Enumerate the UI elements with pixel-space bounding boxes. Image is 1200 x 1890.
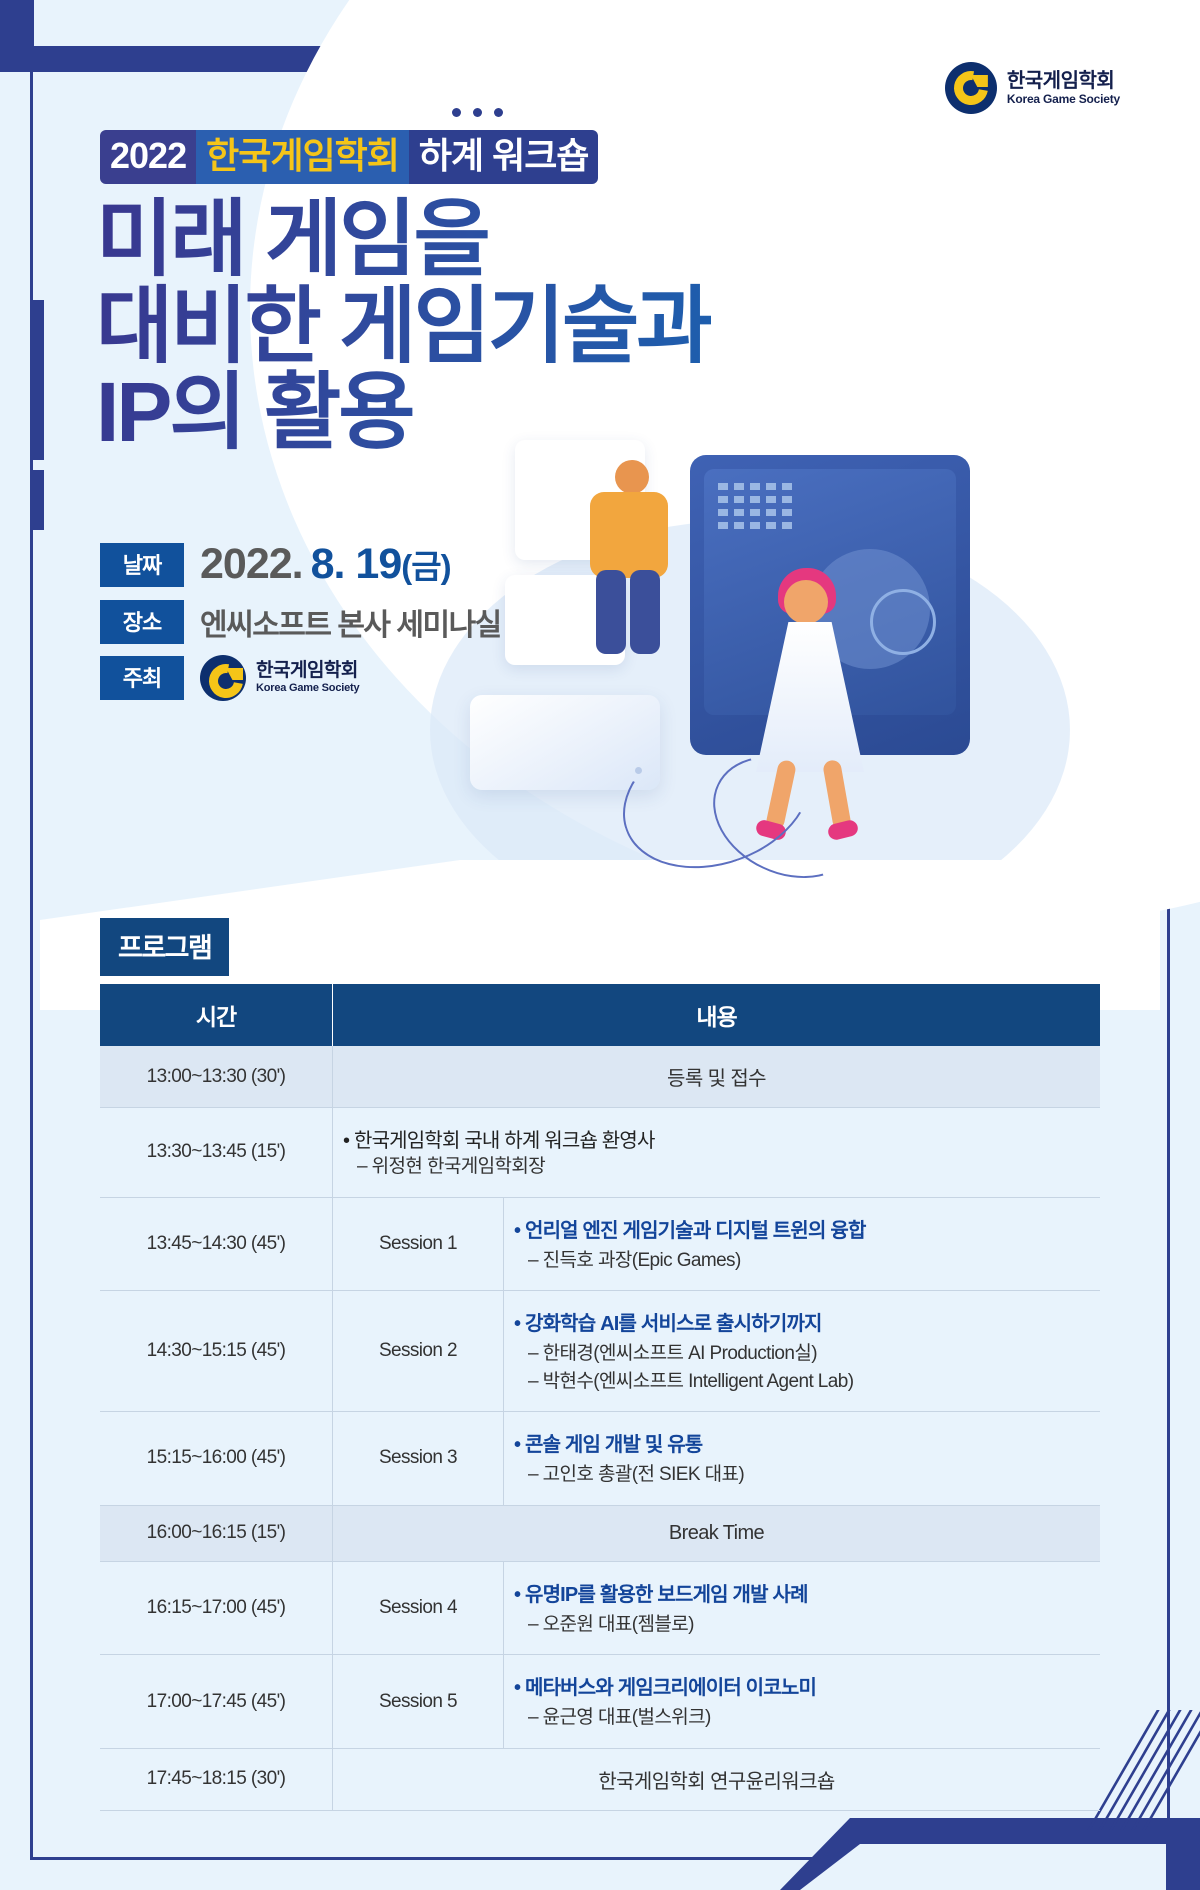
content-topic: 메타버스와 게임크리에이터 이코노미 xyxy=(514,1671,1090,1700)
content-topic: 유명IP를 활용한 보드게임 개발 사례 xyxy=(514,1578,1090,1607)
cell-content: 한국게임학회 국내 하계 워크숍 환영사위정현 한국게임학회장 xyxy=(333,1108,1101,1198)
society-name-en: Korea Game Society xyxy=(1007,92,1120,106)
program-table: 시간 내용 13:00~13:30 (30')등록 및 접수13:30~13:4… xyxy=(100,984,1100,1811)
content-topic: 강화학습 AI를 서비스로 출시하기까지 xyxy=(514,1307,1090,1336)
table-row: 13:45~14:30 (45')Session 1언리얼 엔진 게임기술과 디… xyxy=(100,1197,1100,1291)
table-row: 15:15~16:00 (45')Session 3콘솔 게임 개발 및 유통고… xyxy=(100,1412,1100,1506)
cell-session: Session 4 xyxy=(333,1561,504,1655)
table-row: 17:45~18:15 (30')한국게임학회 연구윤리워크숍 xyxy=(100,1748,1100,1810)
cell-time: 15:15~16:00 (45') xyxy=(100,1412,333,1506)
cell-time: 13:30~13:45 (15') xyxy=(100,1108,333,1198)
poster: 한국게임학회 Korea Game Society 2022 한국게임학회 하계… xyxy=(0,0,1200,1890)
program-header-row: 시간 내용 xyxy=(100,984,1100,1046)
place-value-wrap: 엔씨소프트 본사 세미나실 xyxy=(200,600,501,644)
table-row: 14:30~15:15 (45')Session 2강화학습 AI를 서비스로 … xyxy=(100,1291,1100,1412)
illustration-person-1-head xyxy=(615,460,649,494)
cell-time: 17:00~17:45 (45') xyxy=(100,1655,333,1749)
program-table-head: 시간 내용 xyxy=(100,984,1100,1046)
cell-content: 콘솔 게임 개발 및 유통고인호 총괄(전 SIEK 대표) xyxy=(504,1412,1101,1506)
program-table-body: 13:00~13:30 (30')등록 및 접수13:30~13:45 (15'… xyxy=(100,1046,1100,1810)
date-value: 2022. 8. 19 (금) xyxy=(200,540,451,589)
badge-year: 2022 xyxy=(100,130,196,184)
content-speaker: 위정현 한국게임학회장 xyxy=(343,1153,1090,1181)
page-title: 미래 게임을 대비한 게임기술과 IP의 활용 xyxy=(96,196,711,456)
table-row: 13:30~13:45 (15')한국게임학회 국내 하계 워크숍 환영사위정현… xyxy=(100,1108,1100,1198)
cell-content: 메타버스와 게임크리에이터 이코노미윤근영 대표(벌스위크) xyxy=(504,1655,1101,1749)
info-row-date: 날짜 2022. 8. 19 (금) xyxy=(100,540,501,589)
place-value: 엔씨소프트 본사 세미나실 xyxy=(200,600,501,644)
table-row: 16:15~17:00 (45')Session 4유명IP를 활용한 보드게임… xyxy=(100,1561,1100,1655)
cell-time: 13:45~14:30 (45') xyxy=(100,1197,333,1291)
column-header-time: 시간 xyxy=(100,984,333,1046)
place-label: 장소 xyxy=(100,600,184,644)
cell-content: Break Time xyxy=(333,1505,1101,1561)
cell-session: Session 2 xyxy=(333,1291,504,1412)
content-speaker: 윤근영 대표(벌스위크) xyxy=(514,1704,1090,1732)
table-row: 16:00~16:15 (15')Break Time xyxy=(100,1505,1100,1561)
info-row-host: 주최 한국게임학회 Korea Game Society xyxy=(100,655,501,701)
cell-time: 14:30~15:15 (45') xyxy=(100,1291,333,1412)
info-row-place: 장소 엔씨소프트 본사 세미나실 xyxy=(100,600,501,644)
date-label: 날짜 xyxy=(100,543,184,587)
cell-content: 언리얼 엔진 게임기술과 디지털 트윈의 융합진득호 과장(Epic Games… xyxy=(504,1197,1101,1291)
cell-time: 16:15~17:00 (45') xyxy=(100,1561,333,1655)
cell-content: 유명IP를 활용한 보드게임 개발 사례오준원 대표(젬블로) xyxy=(504,1561,1101,1655)
korea-game-society-logo-icon xyxy=(200,655,246,701)
illustration-person-2-head xyxy=(784,580,828,624)
host-name-en: Korea Game Society xyxy=(256,682,359,695)
cell-time: 16:00~16:15 (15') xyxy=(100,1505,333,1561)
content-speaker: 오준원 대표(젬블로) xyxy=(514,1611,1090,1639)
corner-band-bottom-right-inner xyxy=(800,1844,1200,1890)
hatch-line xyxy=(1131,1710,1200,1830)
dot-1 xyxy=(452,108,461,117)
date-dayofweek: (금) xyxy=(401,540,450,588)
date-monthday: 8. 19 xyxy=(311,540,402,589)
cell-content: 한국게임학회 연구윤리워크숍 xyxy=(333,1748,1101,1810)
content-speaker: 한태경(엔씨소프트 AI Production실) xyxy=(514,1340,1090,1368)
content-speaker: 진득호 과장(Epic Games) xyxy=(514,1247,1090,1275)
illustration-person-1-leg-right xyxy=(630,570,660,654)
host-name-kr: 한국게임학회 xyxy=(256,661,359,682)
cell-content: 등록 및 접수 xyxy=(333,1046,1101,1108)
illustration-ring xyxy=(870,589,936,655)
cell-session: Session 3 xyxy=(333,1412,504,1506)
korea-game-society-logo-icon xyxy=(945,62,997,114)
badge-event: 하계 워크숍 xyxy=(409,130,599,184)
cell-session: Session 5 xyxy=(333,1655,504,1749)
hero-illustration xyxy=(560,430,1170,890)
table-row: 17:00~17:45 (45')Session 5메타버스와 게임크리에이터 … xyxy=(100,1655,1100,1749)
dot-2 xyxy=(473,108,482,117)
column-header-content: 내용 xyxy=(333,984,1101,1046)
host-logo: 한국게임학회 Korea Game Society xyxy=(200,655,359,701)
illustration-dot-grid xyxy=(718,483,792,529)
host-label: 주최 xyxy=(100,656,184,700)
left-accent-bar-secondary xyxy=(30,470,44,530)
cell-time: 13:00~13:30 (30') xyxy=(100,1046,333,1108)
society-logo: 한국게임학회 Korea Game Society xyxy=(945,62,1120,114)
table-row: 13:00~13:30 (30')등록 및 접수 xyxy=(100,1046,1100,1108)
event-info: 날짜 2022. 8. 19 (금) 장소 엔씨소프트 본사 세미나실 주최 한… xyxy=(100,540,501,712)
decorative-dots xyxy=(452,108,503,117)
event-badge: 2022 한국게임학회 하계 워크숍 xyxy=(100,130,598,184)
date-year: 2022. xyxy=(200,540,303,589)
cell-time: 17:45~18:15 (30') xyxy=(100,1748,333,1810)
illustration-person-1-leg-left xyxy=(596,570,626,654)
hatch-lines-bottom-right xyxy=(1122,1710,1182,1830)
cell-content: 강화학습 AI를 서비스로 출시하기까지한태경(엔씨소프트 AI Product… xyxy=(504,1291,1101,1412)
content-topic: 언리얼 엔진 게임기술과 디지털 트윈의 융합 xyxy=(514,1214,1090,1243)
cell-session: Session 1 xyxy=(333,1197,504,1291)
host-logo-text: 한국게임학회 Korea Game Society xyxy=(256,661,359,695)
illustration-person-1-body xyxy=(590,492,668,578)
hatch-line xyxy=(1098,1710,1170,1830)
badge-org: 한국게임학회 xyxy=(196,130,409,184)
content-topic: 콘솔 게임 개발 및 유통 xyxy=(514,1428,1090,1457)
content-topic: 한국게임학회 국내 하계 워크숍 환영사 xyxy=(343,1124,1090,1153)
society-logo-text: 한국게임학회 Korea Game Society xyxy=(1007,70,1120,106)
content-speaker: 박현수(엔씨소프트 Intelligent Agent Lab) xyxy=(514,1368,1090,1396)
content-speaker: 고인호 총괄(전 SIEK 대표) xyxy=(514,1461,1090,1489)
dot-3 xyxy=(494,108,503,117)
society-name-kr: 한국게임학회 xyxy=(1007,70,1120,92)
program-badge: 프로그램 xyxy=(100,918,229,976)
left-accent-bar xyxy=(30,300,44,460)
